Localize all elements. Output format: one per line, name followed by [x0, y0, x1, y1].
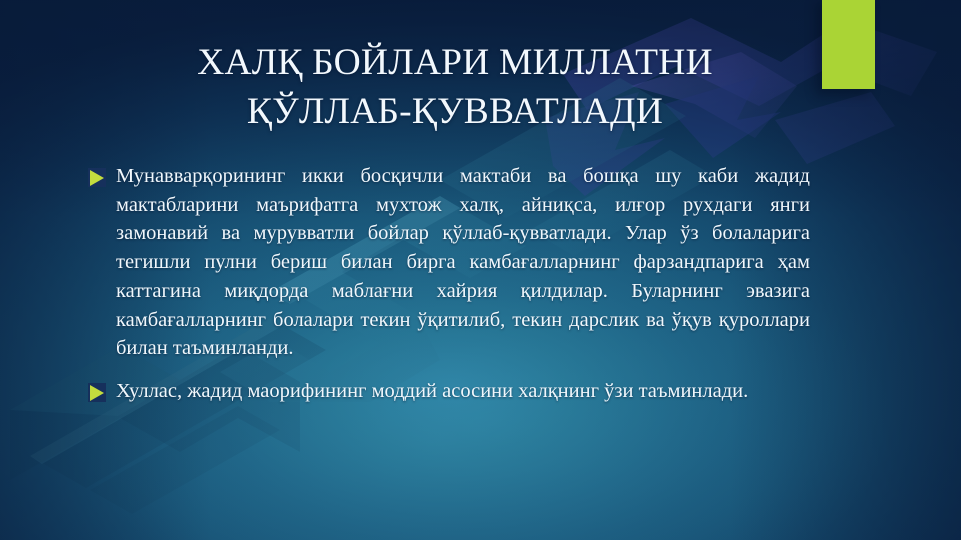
- list-item-text: Хуллас, жадид маорифининг моддий асосини…: [116, 377, 810, 406]
- slide-title: ХАЛҚ БОЙЛАРИ МИЛЛАТНИ ҚЎЛЛАБ-ҚУВВАТЛАДИ: [60, 38, 850, 136]
- triangle-bullet-icon: [88, 382, 108, 404]
- presentation-slide: ХАЛҚ БОЙЛАРИ МИЛЛАТНИ ҚЎЛЛАБ-ҚУВВАТЛАДИ …: [0, 0, 961, 540]
- list-item: Хуллас, жадид маорифининг моддий асосини…: [88, 377, 810, 406]
- triangle-bullet-icon: [88, 167, 108, 189]
- slide-body: Мунавварқорининг икки босқичли мактаби в…: [88, 162, 810, 416]
- list-item-text: Мунавварқорининг икки босқичли мактаби в…: [116, 162, 810, 363]
- list-item: Мунавварқорининг икки босқичли мактаби в…: [88, 162, 810, 363]
